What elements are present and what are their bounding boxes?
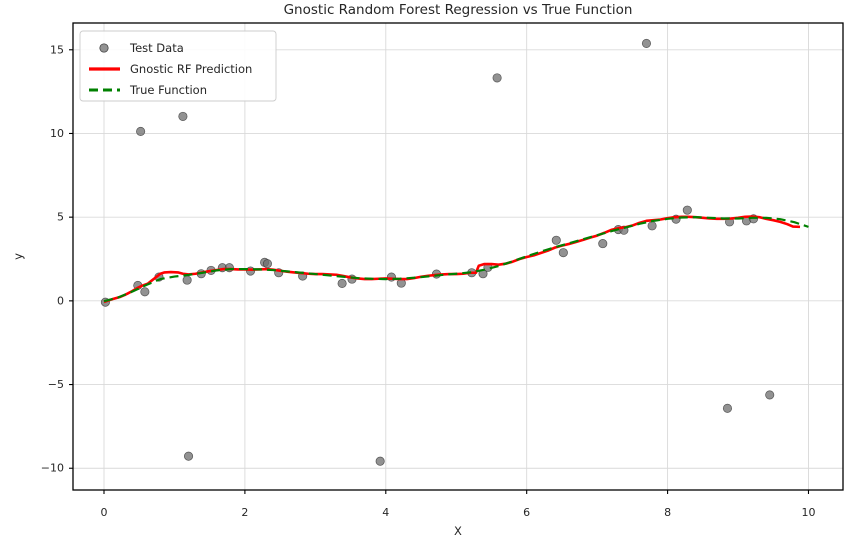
x-tick-label: 2	[241, 506, 248, 519]
chart-canvas: 0246810−10−5051015Gnostic Random Forest …	[0, 0, 853, 547]
x-tick-label: 4	[382, 506, 389, 519]
scatter-point	[599, 239, 607, 247]
y-axis-label: y	[11, 253, 25, 260]
scatter-point	[141, 288, 149, 296]
scatter-point	[766, 391, 774, 399]
y-tick-label: 5	[57, 211, 64, 224]
series-line-gnostic-rf-prediction	[104, 217, 800, 302]
y-tick-label: 0	[57, 294, 64, 307]
scatter-point	[559, 248, 567, 256]
y-tick-label: 10	[50, 127, 64, 140]
x-tick-label: 0	[100, 506, 107, 519]
series-scatter-test-data	[101, 39, 774, 465]
scatter-point	[552, 236, 560, 244]
scatter-point	[648, 222, 656, 230]
scatter-point	[179, 112, 187, 120]
scatter-point	[376, 457, 384, 465]
x-axis-label: X	[454, 524, 462, 538]
data-series-group	[101, 39, 808, 465]
chart-title: Gnostic Random Forest Regression vs True…	[284, 2, 633, 18]
legend-label: Test Data	[129, 41, 184, 55]
legend-marker-circle-icon	[100, 44, 108, 52]
legend-label: True Function	[129, 83, 207, 97]
scatter-point	[183, 276, 191, 284]
scatter-point	[136, 127, 144, 135]
x-tick-label: 6	[523, 506, 530, 519]
chart-figure: 0246810−10−5051015Gnostic Random Forest …	[0, 0, 853, 547]
y-tick-label: −5	[48, 378, 64, 391]
x-tick-label: 8	[664, 506, 671, 519]
x-tick-label: 10	[801, 506, 815, 519]
scatter-point	[225, 264, 233, 272]
scatter-point	[493, 74, 501, 82]
y-tick-label: 15	[50, 43, 64, 56]
scatter-point	[184, 452, 192, 460]
scatter-point	[723, 404, 731, 412]
legend-label: Gnostic RF Prediction	[130, 62, 252, 76]
chart-legend: Test DataGnostic RF PredictionTrue Funct…	[80, 31, 276, 101]
scatter-point	[263, 260, 271, 268]
scatter-point	[683, 206, 691, 214]
scatter-point	[642, 39, 650, 47]
scatter-point	[338, 279, 346, 287]
y-tick-label: −10	[41, 462, 64, 475]
series-line-true-function	[104, 217, 808, 301]
